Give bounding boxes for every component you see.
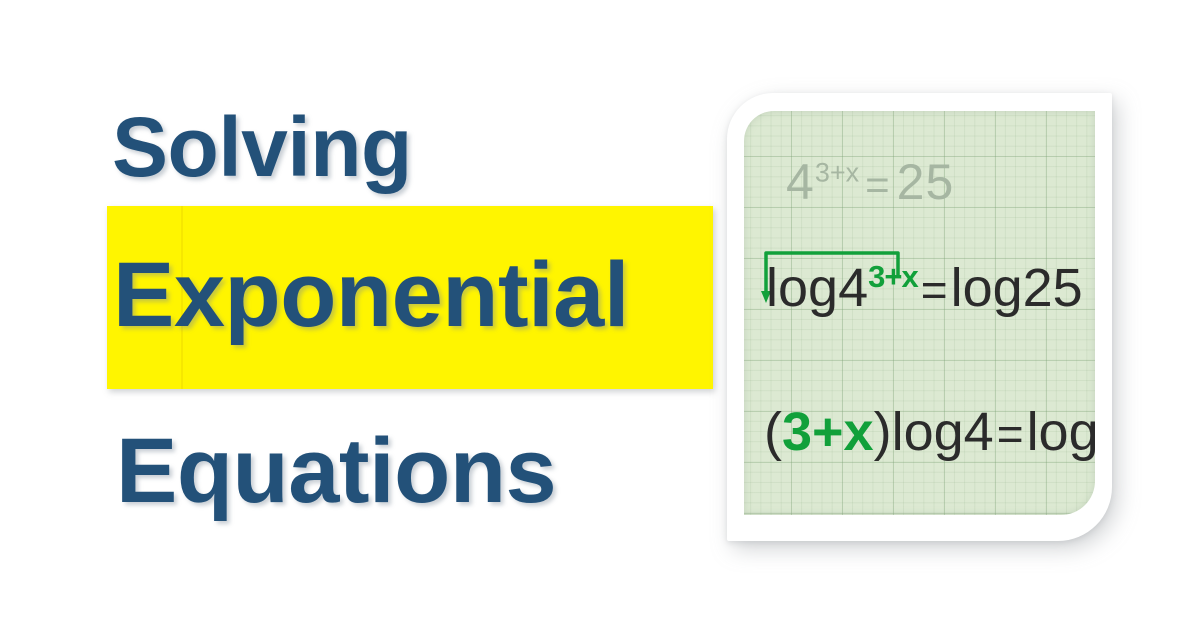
eq3-left-green: 3+x xyxy=(782,402,874,462)
title-block: Solving Exponential Equations xyxy=(0,0,720,621)
eq2-right: 25 xyxy=(1023,258,1083,318)
eq3-left-fn: log xyxy=(892,402,964,462)
slide-canvas: Solving Exponential Equations 43+x=25 lo… xyxy=(0,0,1185,621)
equation-line-log-both-sides: log43+x=log25 xyxy=(766,261,1083,315)
eq2-base: 4 xyxy=(838,258,868,318)
eq3-right-paren: ) xyxy=(874,402,892,462)
equation-line-original: 43+x=25 xyxy=(786,157,954,207)
eq1-exponent: 3+x xyxy=(815,157,859,187)
eq3-left-paren: ( xyxy=(764,402,782,462)
eq1-right: 25 xyxy=(897,154,955,210)
eq2-relation: = xyxy=(918,264,951,316)
eq2-exponent: 3+x xyxy=(868,259,918,294)
eq1-base: 4 xyxy=(786,154,815,210)
title-line-solving: Solving xyxy=(112,105,412,189)
equation-line-power-rule: (3+x)log4=log25 xyxy=(764,405,1095,459)
graph-paper-surface: 43+x=25 log43+x=log25 (3+x)log4=log25 xyxy=(744,111,1095,515)
title-line-exponential: Exponential xyxy=(113,249,629,341)
math-work-card: 43+x=25 log43+x=log25 (3+x)log4=log25 xyxy=(727,93,1112,541)
eq1-relation: = xyxy=(859,161,897,208)
eq2-left-fn: log xyxy=(766,258,838,318)
eq2-right-fn: log xyxy=(951,258,1023,318)
eq3-base: 4 xyxy=(964,402,994,462)
eq3-right-fn: log xyxy=(1027,402,1095,462)
eq3-relation: = xyxy=(994,408,1027,460)
title-line-equations: Equations xyxy=(116,425,556,517)
